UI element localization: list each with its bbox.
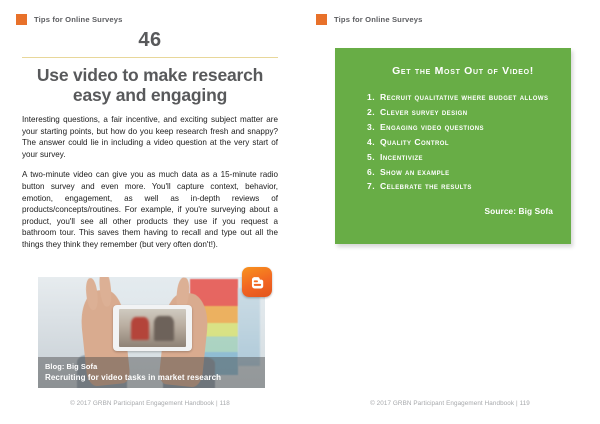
header-divider-rule [22,57,278,58]
body-paragraph-1: Interesting questions, a fair incentive,… [22,114,278,160]
list-item: Celebrate the results [367,180,557,192]
list-item: Clever survey design [367,106,557,118]
photo-block: Blog: Big Sofa Recruiting for video task… [38,277,265,388]
list-item: Incentivize [367,151,557,163]
header-title: Tips for Online Surveys [334,15,423,24]
list-item: Recruit qualitative where budget allows [367,91,557,103]
photo-smartphone-screen [119,309,186,347]
list-item: Show an example [367,166,557,178]
header-swatch-icon [16,14,27,25]
photo-smartphone [113,305,192,352]
photo-image: Blog: Big Sofa Recruiting for video task… [38,277,265,388]
page-title: Use video to make research easy and enga… [22,65,278,105]
photo-caption-source: Blog: Big Sofa [45,361,258,372]
tip-number: 46 [22,29,278,52]
callout-box: Get the Most Out of Video! Recruit quali… [335,48,571,244]
photo-caption-overlay: Blog: Big Sofa Recruiting for video task… [38,357,265,388]
photo-banner-secondary [238,288,261,366]
page-footer-right: © 2017 GRBN Participant Engagement Handb… [300,400,600,407]
body-paragraph-2: A two-minute video can give you as much … [22,169,278,250]
page-footer-left: © 2017 GRBN Participant Engagement Handb… [0,400,300,407]
body-copy: Interesting questions, a fair incentive,… [22,114,278,251]
callout-list: Recruit qualitative where budget allows … [349,91,557,193]
left-page: Tips for Online Surveys 46 Use video to … [0,0,300,424]
header-swatch-icon [316,14,327,25]
page-header-left: Tips for Online Surveys [16,14,123,25]
book-spread: Tips for Online Surveys 46 Use video to … [0,0,600,424]
blogger-icon[interactable] [242,267,272,297]
page-header-right: Tips for Online Surveys [316,14,423,25]
photo-caption-headline: Recruiting for video tasks in market res… [45,372,258,384]
header-title: Tips for Online Surveys [34,15,123,24]
callout-source: Source: Big Sofa [349,206,557,216]
list-item: Quality Control [367,136,557,148]
callout-title: Get the Most Out of Video! [369,65,557,77]
list-item: Engaging video questions [367,121,557,133]
right-page: Tips for Online Surveys Get the Most Out… [300,0,600,424]
